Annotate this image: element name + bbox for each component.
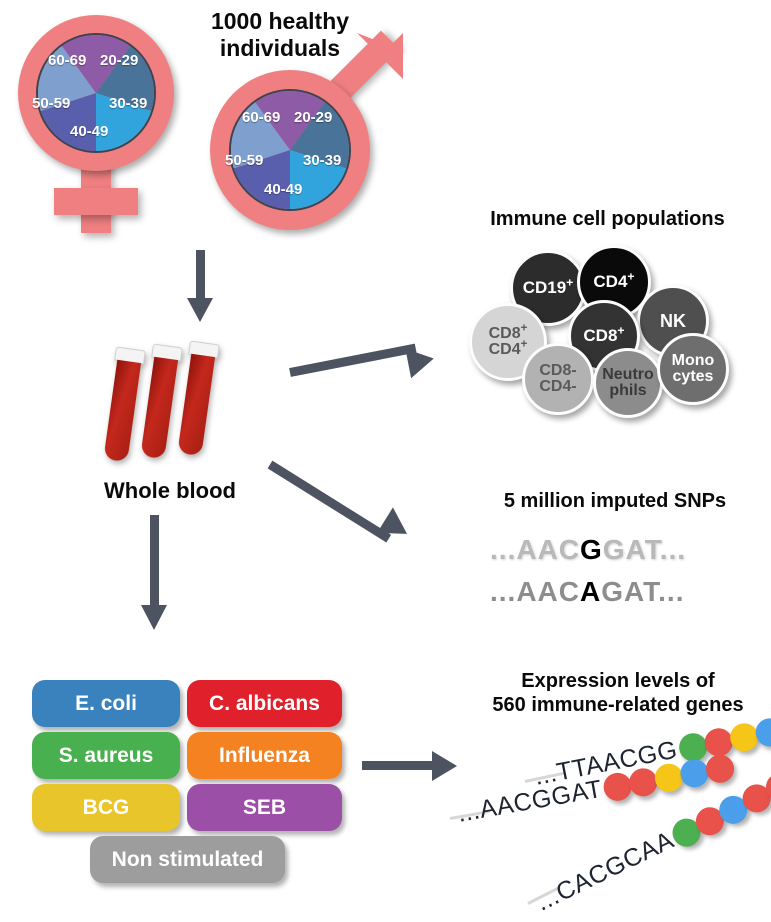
strand-sequence: ...CACGCAA [532,826,679,918]
cell-label-cd8pos-cd4pos: CD8+CD4+ [489,326,528,359]
stimulus-s-aureus[interactable]: S. aureus [32,732,180,779]
title-snps: 5 million imputed SNPs [470,490,760,514]
pie-label-40-49: 40-49 [70,123,108,140]
expression-strands: ...TTAACGG ...AACGGAT ...CACGCAA [440,730,770,920]
female-symbol: 20-29 30-39 40-49 50-59 60-69 [8,10,188,235]
stimulus-bcg[interactable]: BCG [32,784,180,831]
snp-prefix: ...AAC [490,576,580,607]
expression-bead [728,720,761,753]
pie-label-50-59: 50-59 [32,95,70,112]
female-symbol-cross [54,188,138,215]
snp-variant-allele: A [580,576,601,607]
snp-suffix: GAT... [601,576,684,607]
pie-label-30-39: 30-39 [109,95,147,112]
male-symbol: 20-29 30-39 40-49 50-59 60-69 [205,25,420,250]
cell-label-cd4: CD4+ [593,273,634,290]
cell-label-neutrophils: Neutrophils [602,367,654,400]
expression-bead [704,752,736,784]
stimulus-non-stimulated[interactable]: Non stimulated [90,836,285,883]
label-whole-blood: Whole blood [80,478,260,504]
cell-label-cd8: CD8+ [583,327,624,344]
arrow-blood-to-immune [290,330,450,390]
stimuli-panel: E. coli C. albicans S. aureus Influenza … [32,680,342,895]
strand-sequence: ...AACGGAT [455,775,604,829]
cell-neutrophils: Neutrophils [593,348,663,418]
cell-monocytes: Monocytes [657,333,729,405]
blood-tubes [100,340,240,470]
snp-row: ...AACAGAT... [490,576,685,608]
stimulus-e-coli[interactable]: E. coli [32,680,180,727]
cell-label-nk: NK [660,312,686,330]
title-expression-levels: Expression levels of 560 immune-related … [470,670,766,717]
title-immune-cell-populations: Immune cell populations [450,208,765,232]
stimulus-seb[interactable]: SEB [187,784,342,831]
pie-label-male-20-29: 20-29 [294,109,332,126]
snp-suffix: GAT... [603,534,686,565]
pie-label-60-69: 60-69 [48,52,86,69]
snp-prefix: ...AAC [490,534,580,565]
snp-row: ...AACGGAT... [490,534,686,566]
cell-cd8neg-cd4neg: CD8-CD4- [522,343,594,415]
arrow-blood-to-stimuli [140,515,170,635]
pie-label-male-50-59: 50-59 [225,152,263,169]
pie-label-20-29: 20-29 [100,52,138,69]
expression-title-line1: Expression levels of [470,670,766,694]
pie-label-male-30-39: 30-39 [303,152,341,169]
cell-label-cd19: CD19+ [523,279,574,296]
pie-label-male-40-49: 40-49 [264,181,302,198]
arrow-cohort-to-blood [186,250,216,322]
cell-label-cd8neg-cd4neg: CD8-CD4- [539,363,576,396]
snp-sequences: ...AACGGAT... ...AACAGAT... [490,530,750,620]
stimulus-c-albicans[interactable]: C. albicans [187,680,342,727]
snp-variant-allele: G [580,534,603,565]
immune-cell-cluster: CD19+ CD4+ NK CD8+CD4+ CD8+ CD8-CD4- Neu… [465,245,765,420]
stimulus-influenza[interactable]: Influenza [187,732,342,779]
expression-title-line2: 560 immune-related genes [470,694,766,718]
arrow-blood-to-snps [270,450,450,560]
cell-label-monocytes: Monocytes [672,353,715,386]
pie-label-male-60-69: 60-69 [242,109,280,126]
